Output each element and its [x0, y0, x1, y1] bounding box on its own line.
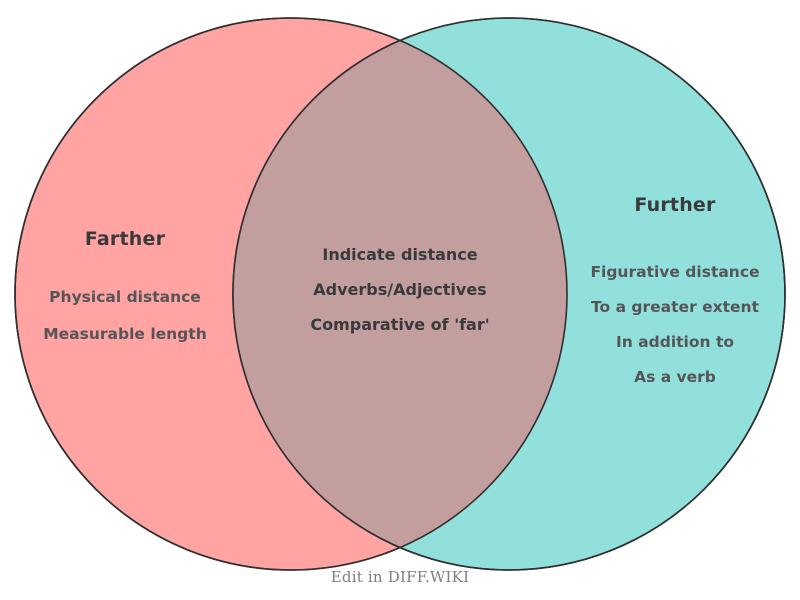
venn-diagram: Farther Physical distance Measurable len… — [0, 0, 800, 600]
edit-credit-link[interactable]: Edit in DIFF.WIKI — [0, 568, 800, 586]
venn-shapes — [0, 0, 800, 600]
